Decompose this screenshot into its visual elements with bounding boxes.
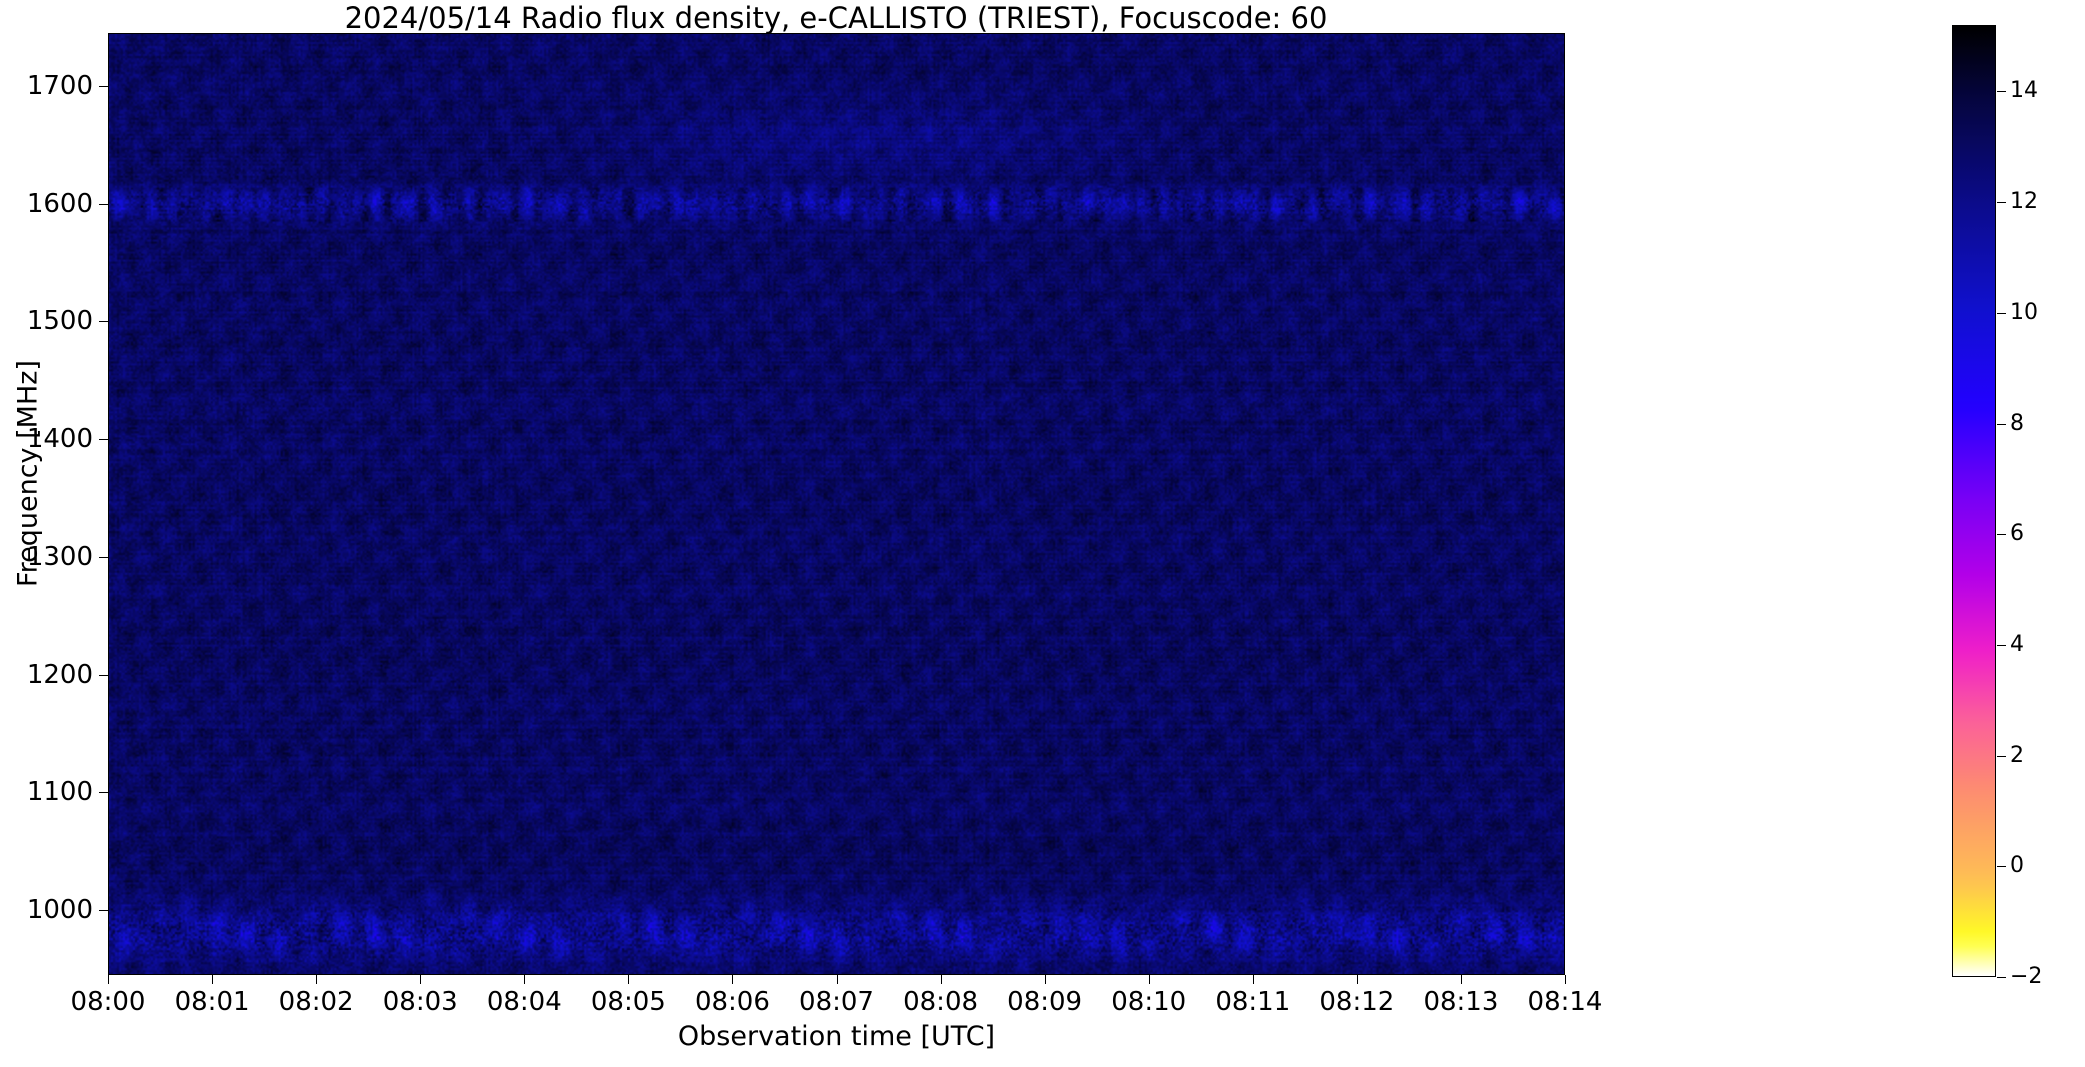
colorbar-tick-label: 4	[2010, 634, 2024, 656]
x-tick-mark	[1357, 975, 1358, 984]
colorbar-tick-mark	[1997, 424, 2006, 425]
colorbar-tick-mark	[1997, 645, 2006, 646]
x-tick-label: 08:10	[1111, 988, 1186, 1016]
x-tick-label: 08:14	[1528, 988, 1603, 1016]
y-tick-mark	[99, 792, 108, 793]
x-tick-label: 08:11	[1215, 988, 1290, 1016]
x-tick-mark	[524, 975, 525, 984]
x-tick-label: 08:13	[1423, 988, 1498, 1016]
x-tick-mark	[1045, 975, 1046, 984]
colorbar-gradient	[1953, 26, 1995, 976]
y-tick-label: 1200	[0, 662, 93, 688]
y-tick-mark	[99, 439, 108, 440]
colorbar-tick-label: 10	[2010, 302, 2038, 324]
x-tick-label: 08:04	[487, 988, 562, 1016]
x-tick-label: 08:03	[383, 988, 458, 1016]
x-tick-mark	[212, 975, 213, 984]
colorbar-tick-label: 0	[2010, 855, 2024, 877]
y-tick-label: 1600	[0, 191, 93, 217]
x-tick-mark	[316, 975, 317, 984]
y-tick-mark	[99, 86, 108, 87]
spectrogram-plot-area	[108, 33, 1565, 975]
x-tick-mark	[1253, 975, 1254, 984]
colorbar-tick-mark	[1997, 756, 2006, 757]
x-tick-mark	[1565, 975, 1566, 984]
colorbar	[1952, 25, 1996, 977]
x-tick-label: 08:09	[1007, 988, 1082, 1016]
x-axis-label: Observation time [UTC]	[108, 1022, 1565, 1051]
y-tick-label: 1400	[0, 426, 93, 452]
y-tick-mark	[99, 675, 108, 676]
x-tick-label: 08:05	[591, 988, 666, 1016]
colorbar-tick-mark	[1997, 91, 2006, 92]
y-tick-label: 1100	[0, 779, 93, 805]
y-tick-label: 1300	[0, 544, 93, 570]
colorbar-tick-mark	[1997, 977, 2006, 978]
y-tick-mark	[99, 321, 108, 322]
y-tick-mark	[99, 557, 108, 558]
y-tick-label: 1000	[0, 897, 93, 923]
colorbar-tick-label: 2	[2010, 745, 2024, 767]
y-tick-label: 1700	[0, 73, 93, 99]
y-tick-label: 1500	[0, 308, 93, 334]
colorbar-tick-label: 8	[2010, 413, 2024, 435]
colorbar-tick-label: −2	[2010, 966, 2042, 988]
x-tick-label: 08:02	[279, 988, 354, 1016]
x-tick-label: 08:00	[71, 988, 146, 1016]
x-tick-label: 08:12	[1319, 988, 1394, 1016]
y-tick-mark	[99, 910, 108, 911]
x-tick-label: 08:06	[695, 988, 770, 1016]
x-tick-label: 08:07	[799, 988, 874, 1016]
colorbar-tick-mark	[1997, 313, 2006, 314]
x-tick-label: 08:01	[175, 988, 250, 1016]
x-tick-mark	[420, 975, 421, 984]
chart-title: 2024/05/14 Radio flux density, e-CALLIST…	[0, 2, 1672, 34]
colorbar-tick-label: 6	[2010, 523, 2024, 545]
spectrogram-image	[109, 34, 1564, 974]
x-tick-mark	[108, 975, 109, 984]
colorbar-tick-mark	[1997, 534, 2006, 535]
colorbar-tick-mark	[1997, 202, 2006, 203]
colorbar-tick-label: 12	[2010, 191, 2038, 213]
x-tick-mark	[732, 975, 733, 984]
colorbar-tick-label: 14	[2010, 80, 2038, 102]
colorbar-tick-mark	[1997, 866, 2006, 867]
x-tick-mark	[837, 975, 838, 984]
x-tick-mark	[941, 975, 942, 984]
x-tick-mark	[1461, 975, 1462, 984]
x-tick-label: 08:08	[903, 988, 978, 1016]
figure-root: 2024/05/14 Radio flux density, e-CALLIST…	[0, 0, 2085, 1067]
x-tick-mark	[1149, 975, 1150, 984]
x-tick-mark	[628, 975, 629, 984]
y-tick-mark	[99, 204, 108, 205]
